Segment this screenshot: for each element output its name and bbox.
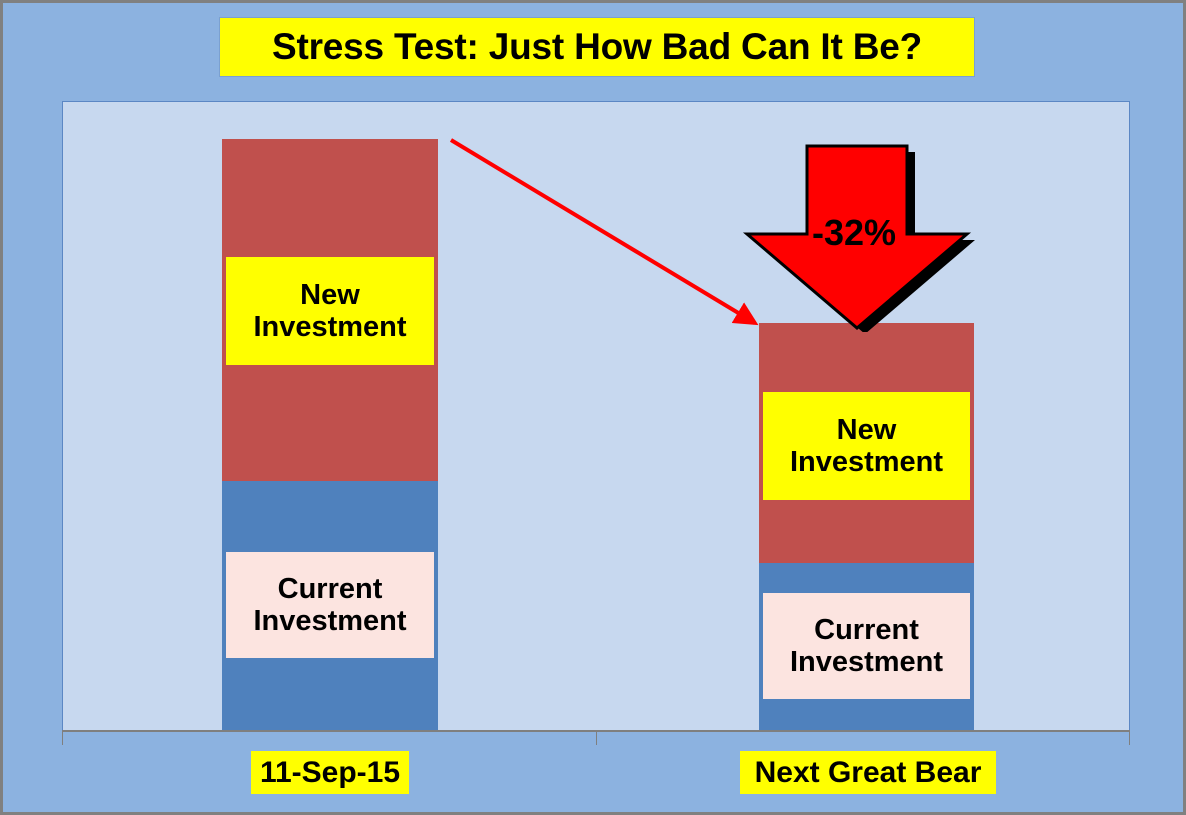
x-axis-tick <box>596 732 597 745</box>
data-label-line-1: New <box>300 279 360 311</box>
chart-title: Stress Test: Just How Bad Can It Be? <box>219 17 975 77</box>
data-label-line-1: Current <box>814 614 919 646</box>
data-label-line-2: Investment <box>790 446 943 478</box>
x-axis-category-label: 11-Sep-15 <box>251 751 409 794</box>
data-label-current-investment: Current Investment <box>762 592 971 700</box>
data-label-line-2: Investment <box>253 311 406 343</box>
decline-percent-label: -32% <box>741 212 967 254</box>
data-label-line-2: Investment <box>253 605 406 637</box>
x-axis-tick <box>62 732 63 745</box>
x-axis-tick <box>1129 732 1130 745</box>
decline-callout: -32% <box>741 136 977 332</box>
data-label-new-investment: New Investment <box>762 391 971 501</box>
data-label-line-2: Investment <box>790 646 943 678</box>
chart-canvas: Stress Test: Just How Bad Can It Be? New… <box>0 0 1186 815</box>
data-label-new-investment: New Investment <box>225 256 435 366</box>
data-label-current-investment: Current Investment <box>225 551 435 659</box>
x-axis-category-label: Next Great Bear <box>740 751 996 794</box>
data-label-line-1: Current <box>278 573 383 605</box>
data-label-line-1: New <box>837 414 897 446</box>
